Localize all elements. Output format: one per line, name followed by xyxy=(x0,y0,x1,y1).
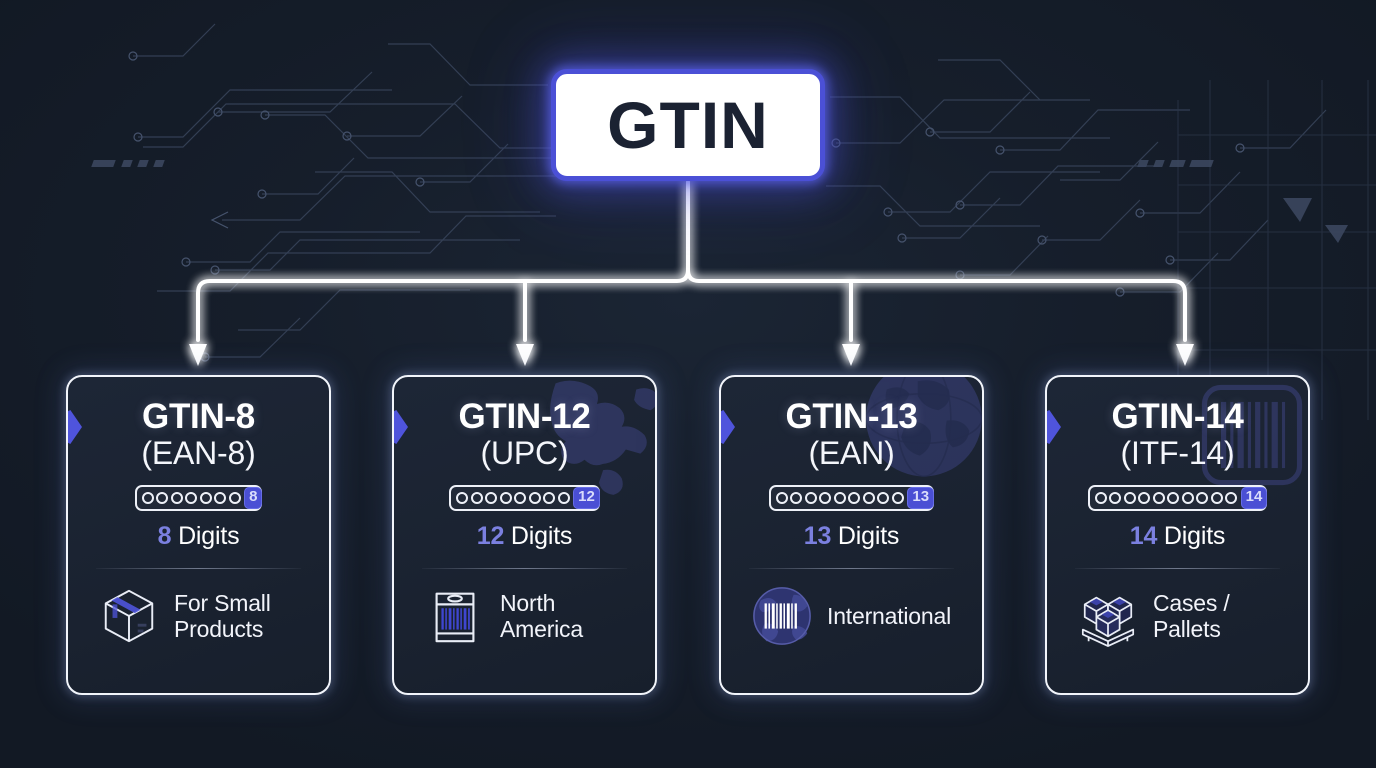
digit-count-label: 14 Digits xyxy=(1063,522,1292,551)
card-title: GTIN-14 xyxy=(1063,399,1292,435)
digits-word: Digits xyxy=(178,522,239,550)
digit-pill-icon: 13 xyxy=(769,485,934,511)
infographic-canvas: GTIN GTIN-8 (EAN-8) xyxy=(0,0,1376,768)
usage-label: Cases / Pallets xyxy=(1153,590,1288,642)
pill-digit-count: 8 xyxy=(244,487,262,509)
card-title: GTIN-12 xyxy=(410,399,639,435)
digits-word: Digits xyxy=(511,522,572,550)
card-title: GTIN-13 xyxy=(737,399,966,435)
usage-label: International xyxy=(827,603,951,629)
globe-barcode-icon xyxy=(751,585,813,647)
digit-count-number: 12 xyxy=(477,522,504,550)
gtin-root-node: GTIN xyxy=(551,69,825,181)
pill-digit-count: 13 xyxy=(907,487,934,509)
card-title: GTIN-8 xyxy=(84,399,313,435)
retail-pouch-barcode-icon xyxy=(424,585,486,647)
gtin-card-gtin-8[interactable]: GTIN-8 (EAN-8) 8 8 Digits xyxy=(66,375,331,695)
digits-word: Digits xyxy=(1164,522,1225,550)
card-subtitle: (EAN-8) xyxy=(84,436,313,472)
usage-label: For Small Products xyxy=(174,590,309,642)
digit-count-label: 12 Digits xyxy=(410,522,639,551)
pill-digit-count: 12 xyxy=(573,487,600,509)
card-subtitle: (EAN) xyxy=(737,436,966,472)
digit-pill-icon: 14 xyxy=(1088,485,1268,511)
digit-count-label: 13 Digits xyxy=(737,522,966,551)
digit-count-number: 8 xyxy=(158,522,172,550)
gtin-title: GTIN xyxy=(607,92,769,158)
pallet-cases-icon xyxy=(1077,585,1139,647)
usage-label: North America xyxy=(500,590,635,642)
digit-count-number: 13 xyxy=(804,522,831,550)
gtin-card-gtin-12[interactable]: GTIN-12 (UPC) 12 12 Digits xyxy=(392,375,657,695)
digit-count-label: 8 Digits xyxy=(84,522,313,551)
card-subtitle: (ITF-14) xyxy=(1063,436,1292,472)
card-subtitle: (UPC) xyxy=(410,436,639,472)
gtin-card-gtin-14[interactable]: GTIN-14 (ITF-14) 14 14 Digits xyxy=(1045,375,1310,695)
digit-pill-icon: 12 xyxy=(449,485,600,511)
pill-digit-count: 14 xyxy=(1241,487,1268,509)
gtin-card-gtin-13[interactable]: GTIN-13 (EAN) 13 13 Digits xyxy=(719,375,984,695)
digits-word: Digits xyxy=(838,522,899,550)
digit-pill-icon: 8 xyxy=(135,485,263,511)
digit-count-number: 14 xyxy=(1130,522,1157,550)
shipping-box-icon xyxy=(98,585,160,647)
